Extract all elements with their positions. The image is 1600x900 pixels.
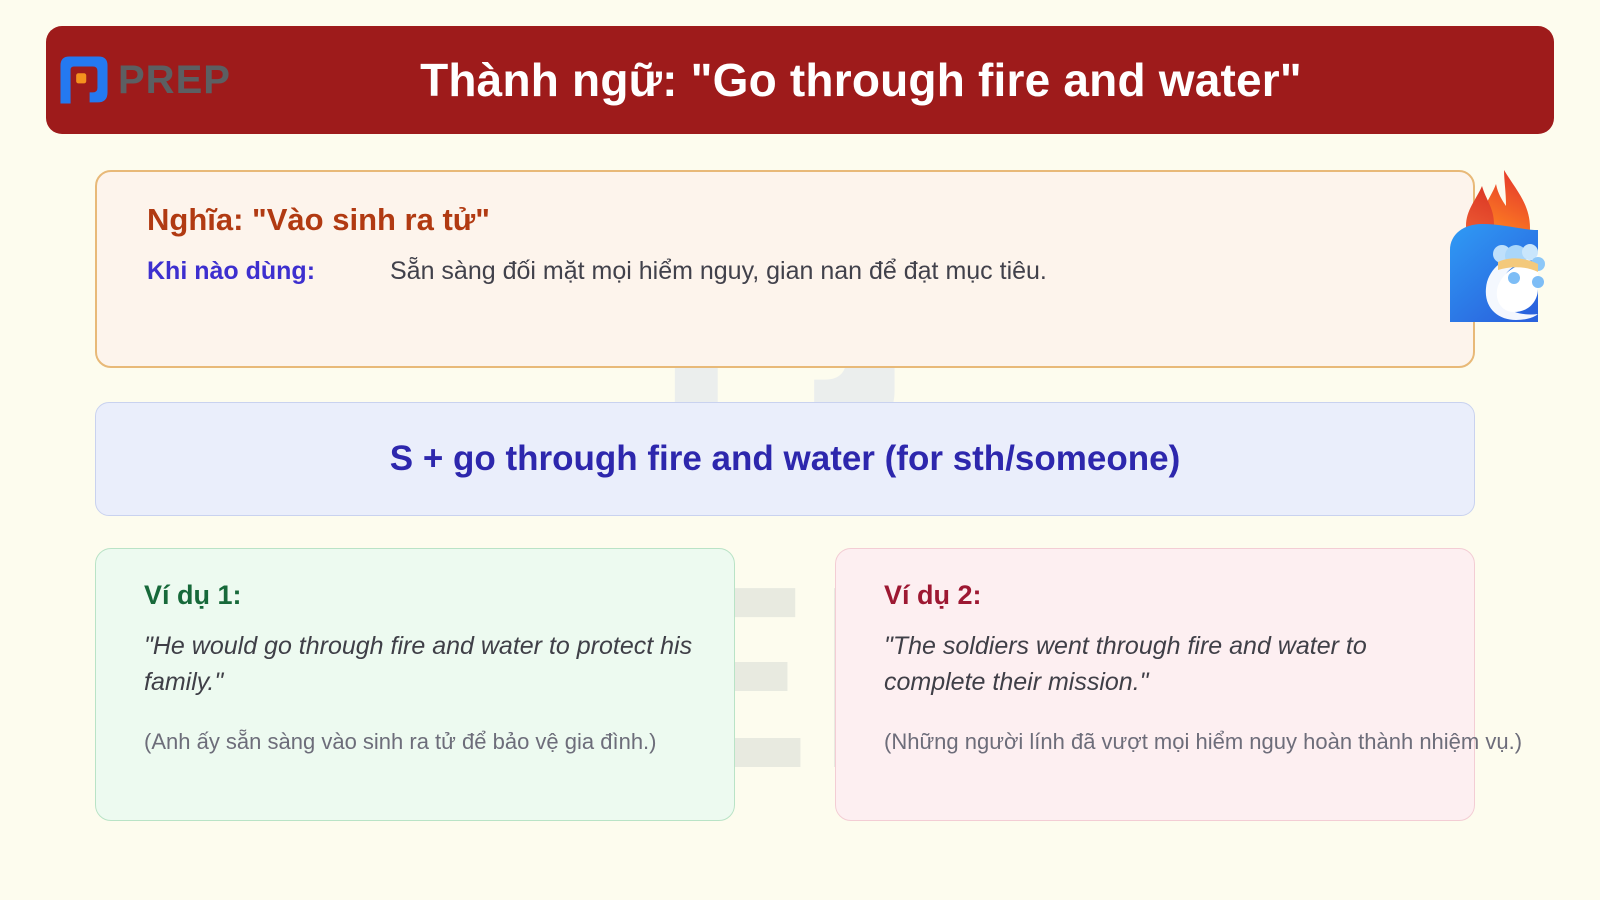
example-1-translation: (Anh ấy sẵn sàng vào sinh ra tử để bảo v… bbox=[144, 729, 657, 755]
example-1-title: Ví dụ 1: bbox=[144, 580, 242, 611]
meaning-card: Nghĩa: "Vào sinh ra tử" Khi nào dùng: Sẵ… bbox=[95, 170, 1475, 368]
example-2-title: Ví dụ 2: bbox=[884, 580, 982, 611]
formula-text: S + go through fire and water (for sth/s… bbox=[390, 439, 1180, 479]
meaning-usage-label: Khi nào dùng: bbox=[147, 257, 390, 286]
example-2-quote: "The soldiers went through fire and wate… bbox=[884, 629, 1444, 700]
fire-and-water-icon bbox=[1442, 166, 1546, 326]
page-title: Thành ngữ: "Go through fire and water" bbox=[288, 53, 1554, 107]
prep-logo-icon bbox=[56, 52, 112, 108]
meaning-usage-text: Sẵn sàng đối mặt mọi hiểm nguy, gian nan… bbox=[390, 257, 1047, 286]
page-header: PREP Thành ngữ: "Go through fire and wat… bbox=[46, 26, 1554, 134]
example-card-1: Ví dụ 1: "He would go through fire and w… bbox=[95, 548, 735, 821]
brand: PREP bbox=[56, 52, 288, 108]
example-1-quote: "He would go through fire and water to p… bbox=[144, 629, 704, 700]
meaning-usage-row: Khi nào dùng: Sẵn sàng đối mặt mọi hiểm … bbox=[147, 257, 1047, 286]
formula-card: S + go through fire and water (for sth/s… bbox=[95, 402, 1475, 516]
example-card-2: Ví dụ 2: "The soldiers went through fire… bbox=[835, 548, 1475, 821]
example-2-translation: (Những người lính đã vượt mọi hiểm nguy … bbox=[884, 729, 1522, 755]
meaning-title: Nghĩa: "Vào sinh ra tử" bbox=[147, 202, 490, 238]
brand-wordmark: PREP bbox=[118, 60, 231, 100]
